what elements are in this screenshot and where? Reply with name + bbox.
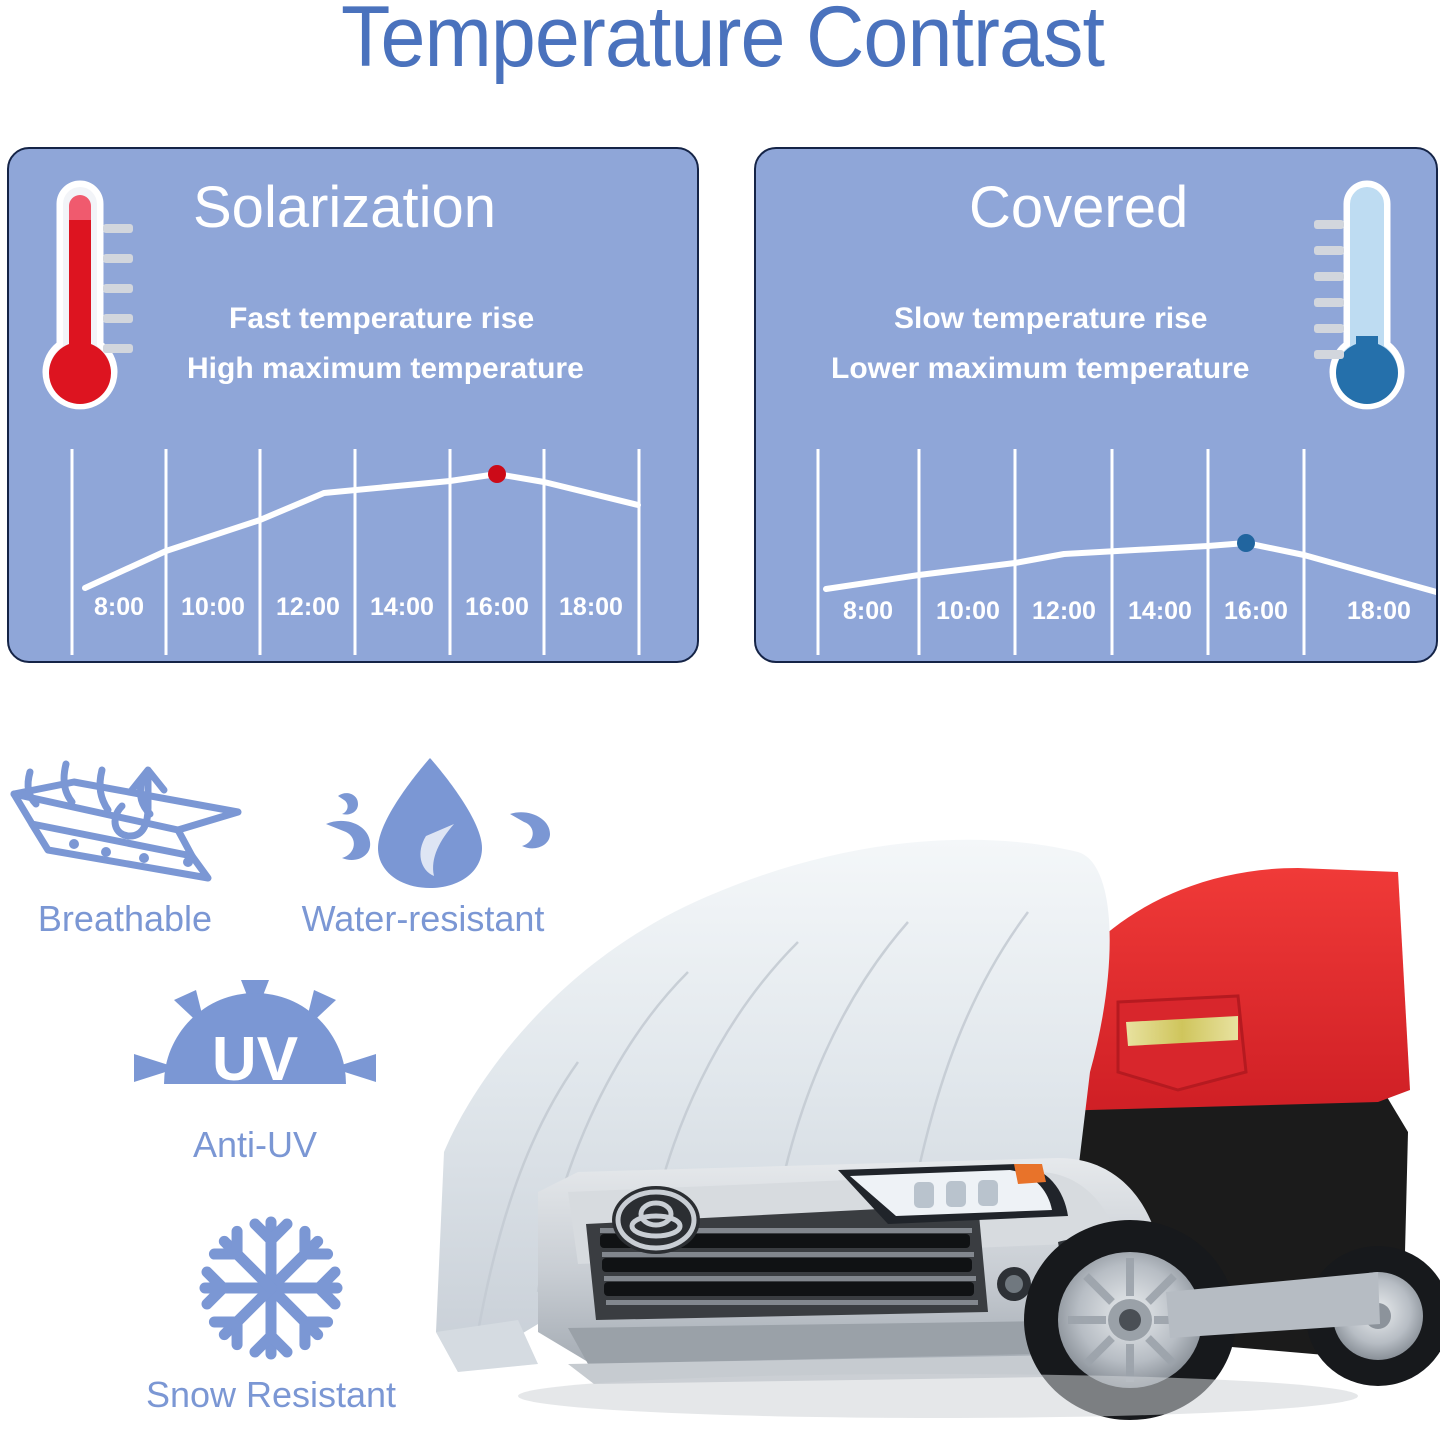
suv-with-car-cover-photo <box>418 772 1440 1424</box>
tick-label-0800: 8:00 <box>843 599 893 624</box>
feature-snow-resistant: Snow Resistant <box>126 1208 416 1413</box>
uv-badge-text: UV <box>212 1025 298 1094</box>
tick-label-1600: 16:00 <box>1224 599 1288 624</box>
chart-peak-marker <box>1237 534 1255 552</box>
panel-heading-covered: Covered <box>969 179 1188 237</box>
chart-peak-marker <box>488 465 506 483</box>
tick-label-1600: 16:00 <box>465 595 529 620</box>
feature-breathable: Breathable <box>2 752 248 937</box>
tick-label-1800: 18:00 <box>559 595 623 620</box>
thermometer-hot-icon <box>31 176 135 432</box>
tick-label-1400: 14:00 <box>370 595 434 620</box>
feature-label-snow-resistant: Snow Resistant <box>126 1377 416 1413</box>
feature-label-anti-uv: Anti-UV <box>130 1127 380 1163</box>
covered-chart: 8:00 10:00 12:00 14:00 16:00 18:00 <box>756 441 1436 663</box>
tick-label-1200: 12:00 <box>276 595 340 620</box>
solarization-chart: 8:00 10:00 12:00 14:00 16:00 18:00 <box>9 441 697 663</box>
tick-label-0800: 8:00 <box>94 595 144 620</box>
thermometer-cold-icon <box>1312 176 1416 432</box>
tick-label-1200: 12:00 <box>1032 599 1096 624</box>
page-title: Temperature Contrast <box>43 0 1401 87</box>
tick-label-1800: 18:00 <box>1347 599 1411 624</box>
tick-label-1000: 10:00 <box>181 595 245 620</box>
panel-subtitle-slow-rise: Slow temperature rise <box>894 304 1207 334</box>
feature-anti-uv: UV Anti-UV <box>130 978 380 1163</box>
snowflake-icon <box>126 1208 416 1368</box>
uv-sun-icon: UV <box>130 978 380 1118</box>
breathable-fabric-icon <box>2 752 248 892</box>
panel-subtitle-fast-rise: Fast temperature rise <box>229 304 534 334</box>
panel-subtitle-lower-max: Lower maximum temperature <box>831 354 1249 384</box>
panel-subtitle-high-max: High maximum temperature <box>187 354 584 384</box>
feature-label-breathable: Breathable <box>2 901 248 937</box>
tick-label-1400: 14:00 <box>1128 599 1192 624</box>
tick-label-1000: 10:00 <box>936 599 1000 624</box>
panel-covered: Covered Slow temperature rise Lower maxi… <box>754 147 1438 663</box>
panel-heading-solarization: Solarization <box>193 179 496 237</box>
panel-solarization: Solarization Fast temperature rise High … <box>7 147 699 663</box>
